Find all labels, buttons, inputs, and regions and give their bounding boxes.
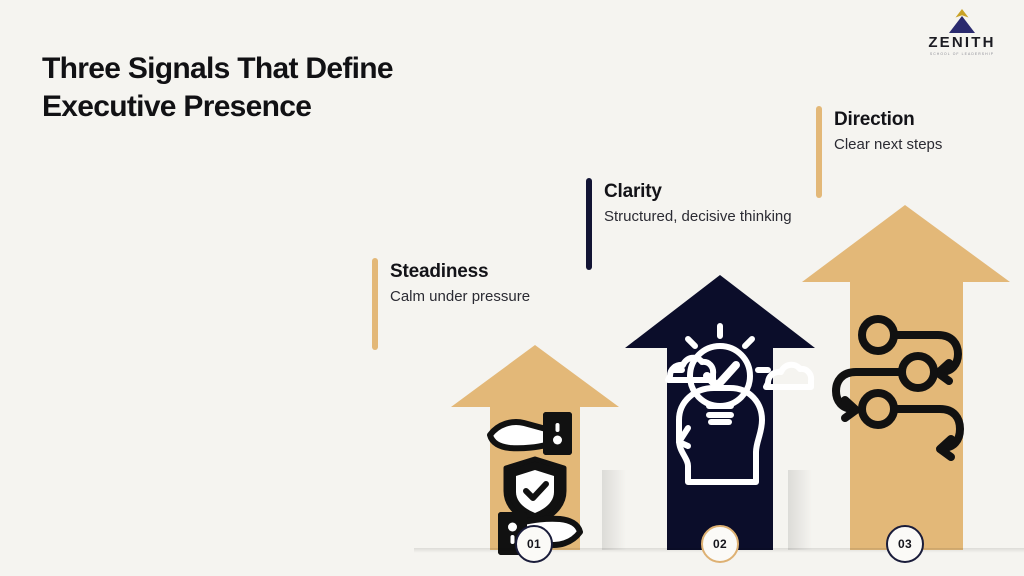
callout-accent-bar-1 (372, 258, 378, 350)
step-badge-01: 01 (515, 525, 553, 563)
callout-subtitle-1: Calm under pressure (390, 287, 530, 307)
logo-wordmark: ZENITH (914, 35, 1010, 50)
callout-accent-bar-3 (816, 106, 822, 198)
slide-canvas: Three Signals That Define Executive Pres… (0, 0, 1024, 576)
page-title-line-1: Three Signals That Define (42, 50, 562, 88)
step-badge-03: 03 (886, 525, 924, 563)
arrow-shape-3 (788, 200, 1024, 562)
callout-heading-3: Direction (834, 108, 942, 132)
callout-direction: Direction Clear next steps (816, 106, 942, 198)
arrow-direction (788, 200, 1024, 562)
arrow-gap-shadow-2 (788, 470, 812, 550)
arrow-gap-shadow-1 (602, 470, 626, 550)
callout-subtitle-3: Clear next steps (834, 135, 942, 155)
page-title-line-2: Executive Presence (42, 88, 562, 126)
callout-subtitle-2: Structured, decisive thinking (604, 207, 792, 227)
callout-accent-bar-2 (586, 178, 592, 270)
brand-logo: ZENITH SCHOOL OF LEADERSHIP (914, 8, 1010, 56)
callout-clarity: Clarity Structured, decisive thinking (586, 178, 792, 270)
logo-tagline: SCHOOL OF LEADERSHIP (914, 53, 1010, 56)
callout-heading-1: Steadiness (390, 260, 530, 284)
mountain-peak-icon (941, 8, 983, 34)
callout-steadiness: Steadiness Calm under pressure (372, 258, 530, 350)
step-badge-02: 02 (701, 525, 739, 563)
page-title: Three Signals That Define Executive Pres… (42, 50, 562, 127)
callout-heading-2: Clarity (604, 180, 792, 204)
